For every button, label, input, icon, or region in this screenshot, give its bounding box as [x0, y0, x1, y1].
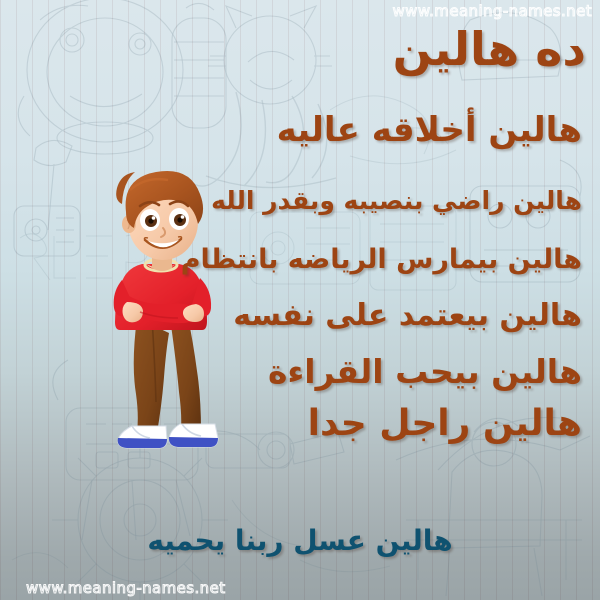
trait-line-1-text: هالين أخلاقه عاليه: [277, 110, 582, 150]
trait-line-2: هالين راضي بنصيبه وبقدر الله: [211, 186, 582, 215]
trait-line-1: هالين أخلاقه عاليه: [277, 110, 582, 150]
trait-line-6: هالين راجل جدا: [308, 403, 582, 444]
page-title: ده هالين: [393, 22, 586, 76]
text-block: ده هالين هالين أخلاقه عاليه هالين راضي ب…: [0, 0, 600, 600]
closing-line-text: هالين عسل ربنا يحميه: [147, 524, 452, 557]
trait-line-4: هالين بيعتمد على نفسه: [233, 298, 582, 333]
trait-line-2-text: هالين راضي بنصيبه وبقدر الله: [211, 186, 582, 215]
trait-line-5-text: هالين بيحب القراءة: [268, 352, 582, 391]
paper-ruling-lines: [0, 0, 600, 600]
page-title-text: ده هالين: [393, 22, 586, 76]
background-sketch-doodles: [0, 0, 600, 600]
closing-line: هالين عسل ربنا يحميه: [0, 524, 600, 557]
trait-line-4-text: هالين بيعتمد على نفسه: [233, 298, 582, 333]
trait-line-3-text: هالين بيمارس الرياضه بانتظام: [181, 244, 582, 275]
watermark-top: www.meaning-names.net: [393, 2, 592, 20]
trait-line-3: هالين بيمارس الرياضه بانتظام: [181, 244, 582, 275]
trait-line-6-text: هالين راجل جدا: [308, 403, 582, 444]
name-meaning-image: ده هالين هالين أخلاقه عاليه هالين راضي ب…: [0, 0, 600, 600]
cartoon-boy-illustration: [96, 168, 228, 450]
trait-line-5: هالين بيحب القراءة: [268, 352, 582, 391]
watermark-bottom: www.meaning-names.net: [26, 579, 225, 597]
